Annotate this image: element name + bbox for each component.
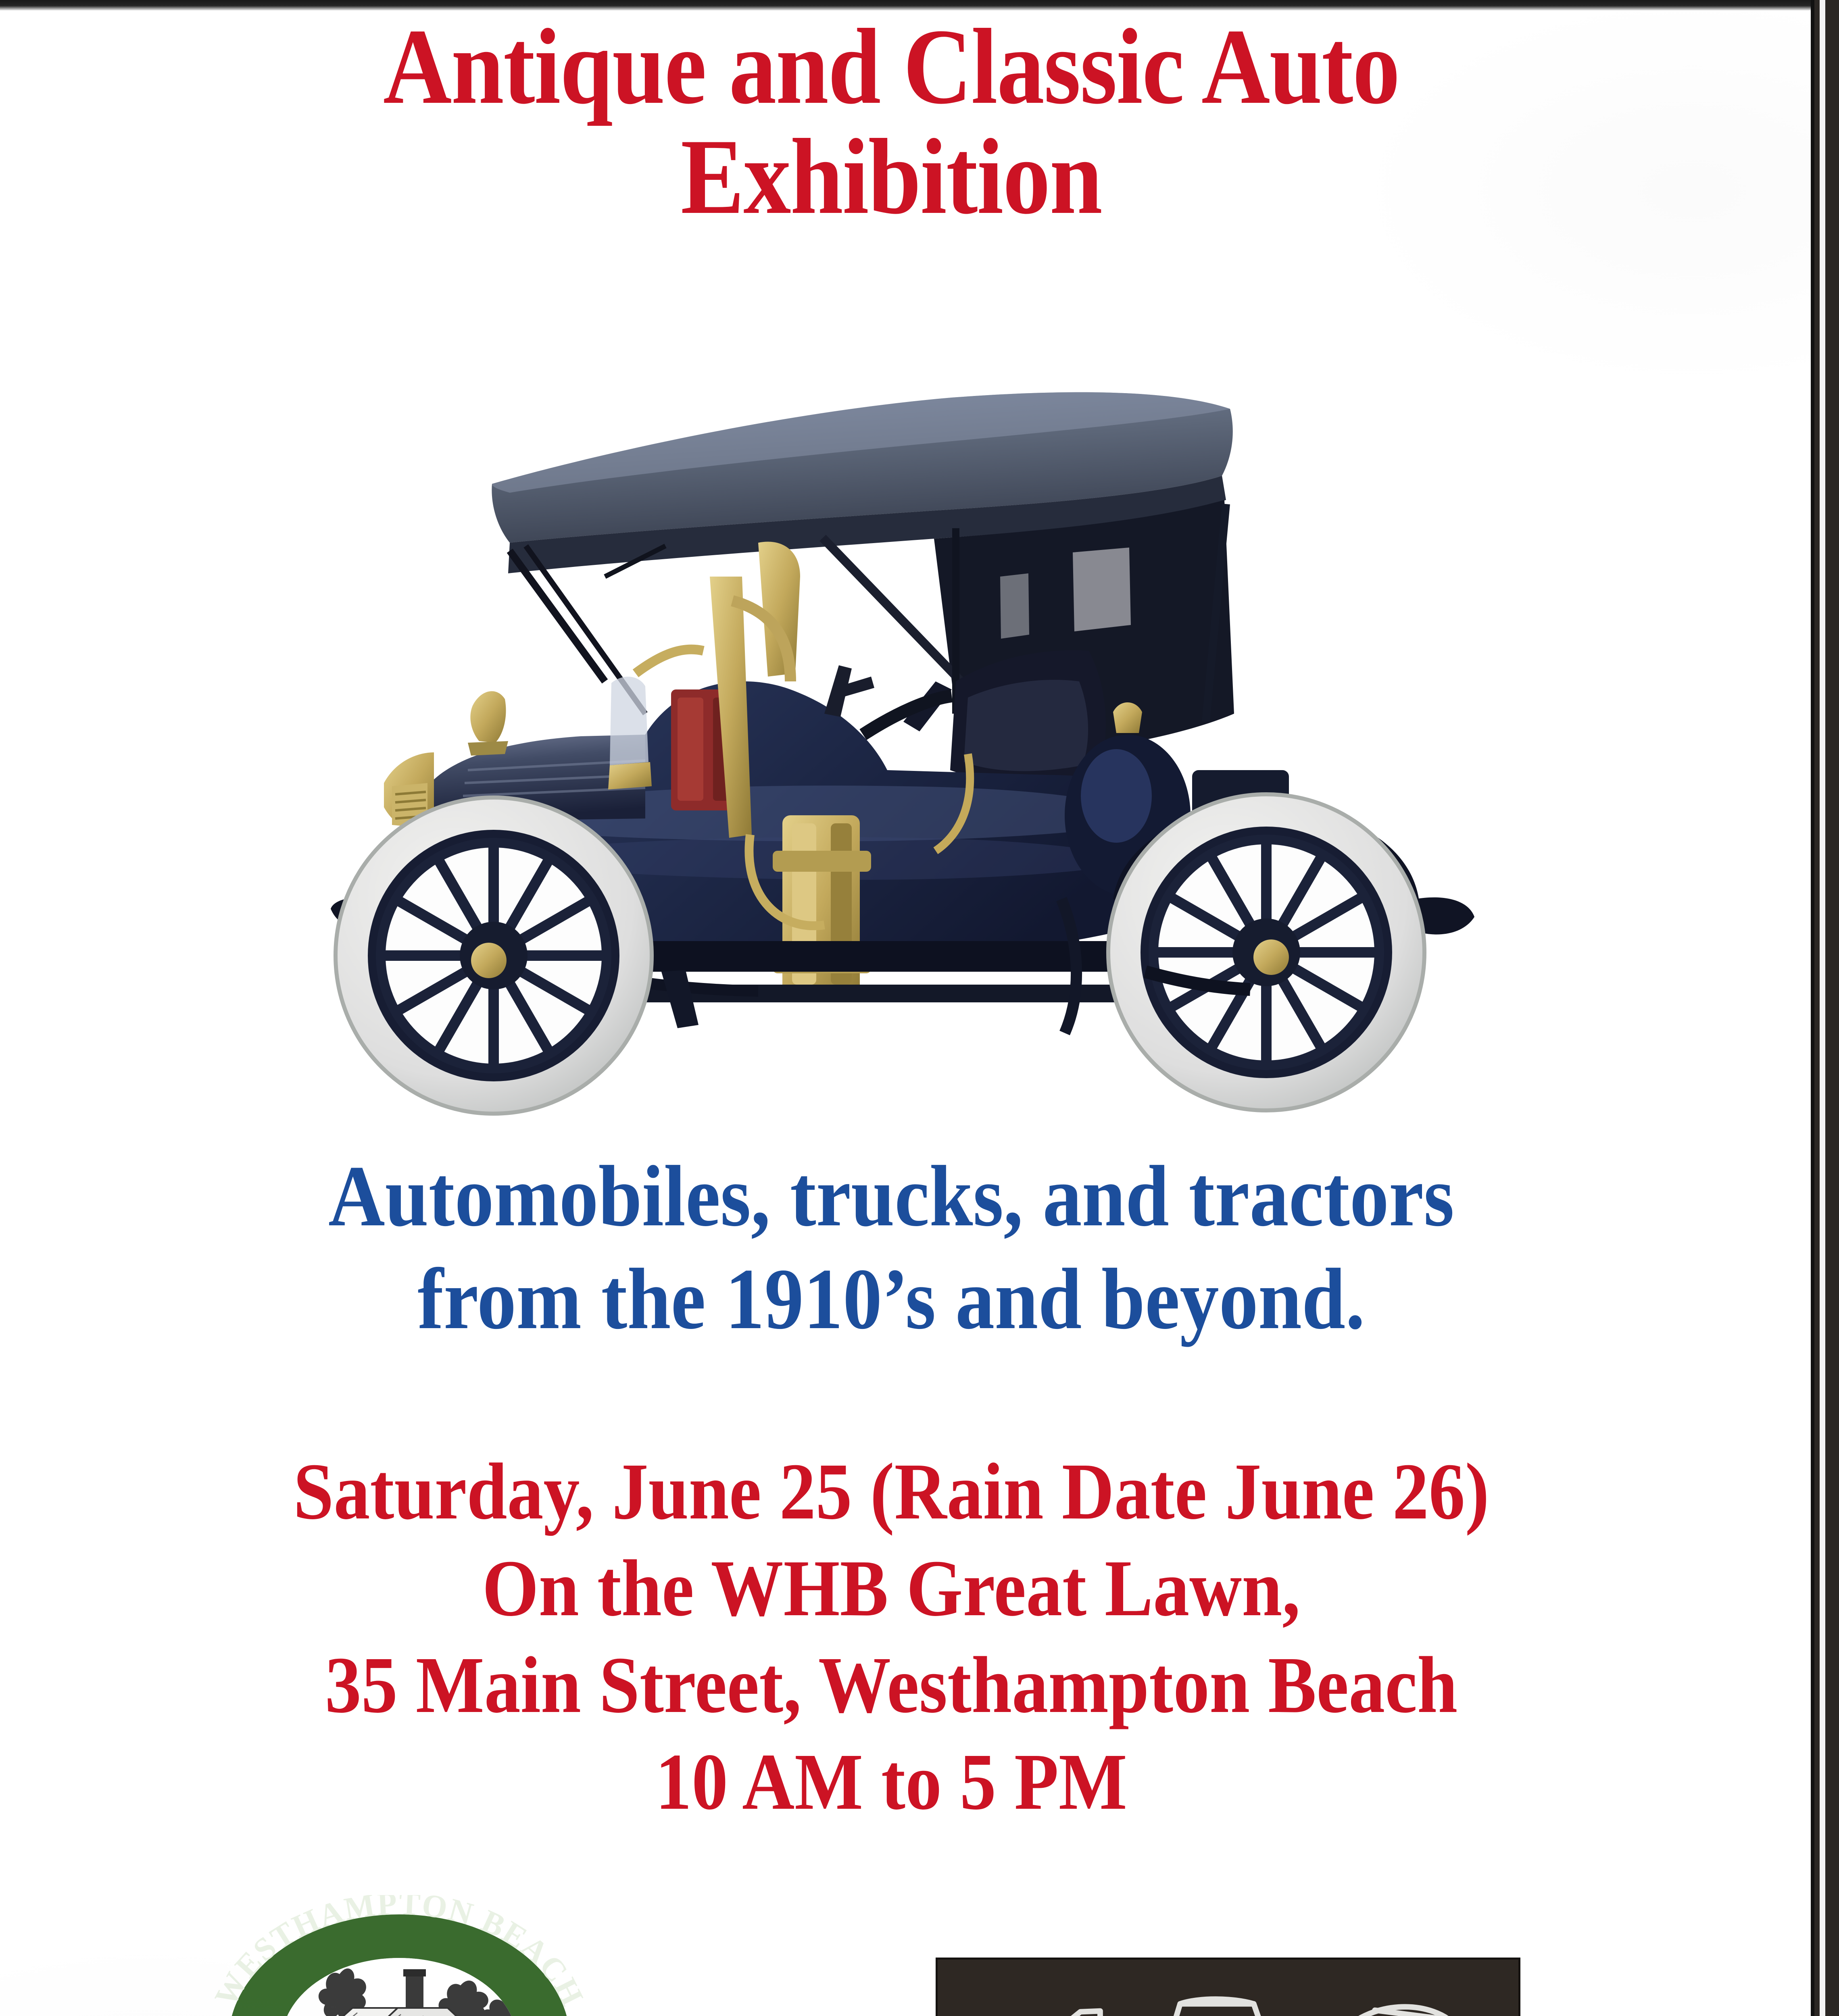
event-address-line: 35 Main Street, Westhampton Beach: [89, 1637, 1693, 1734]
antique-car-photo: [226, 335, 1557, 1121]
scan-edge-top: [0, 0, 1839, 10]
poster-title: Antique and Classic Auto Exhibition: [107, 11, 1676, 232]
poster-tagline: Automobiles, trucks, and tractors from t…: [89, 1145, 1693, 1351]
event-venue-line: On the WHB Great Lawn,: [89, 1540, 1693, 1637]
westhampton-beach-historical-society-logo: WESTHAMPTON BEACH HISTORICAL SOCIETY: [181, 1895, 617, 2016]
poster-event-details: Saturday, June 25 (Rain Date June 26) On…: [89, 1443, 1693, 1831]
poster-page: Antique and Classic Auto Exhibition: [0, 0, 1839, 2016]
aaca-car-lineart: [938, 1960, 1518, 2016]
aaca-logo-box: ANTIQUE AUTOMOBILE CLUB of AMERICA: [936, 1958, 1520, 2016]
poster-tagline-line-1: Automobiles, trucks, and tractors: [89, 1145, 1693, 1248]
event-time-line: 10 AM to 5 PM: [89, 1734, 1693, 1831]
poster-tagline-line-2: from the 1910’s and beyond.: [89, 1248, 1693, 1351]
poster-title-line-2: Exhibition: [107, 121, 1676, 231]
poster-title-line-1: Antique and Classic Auto: [107, 11, 1676, 121]
event-date-line: Saturday, June 25 (Rain Date June 26): [89, 1443, 1693, 1540]
antique-automobile-club-of-america-logo: ANTIQUE AUTOMOBILE CLUB of AMERICA: [936, 1958, 1520, 2016]
scan-edge-right: [1811, 0, 1839, 2016]
